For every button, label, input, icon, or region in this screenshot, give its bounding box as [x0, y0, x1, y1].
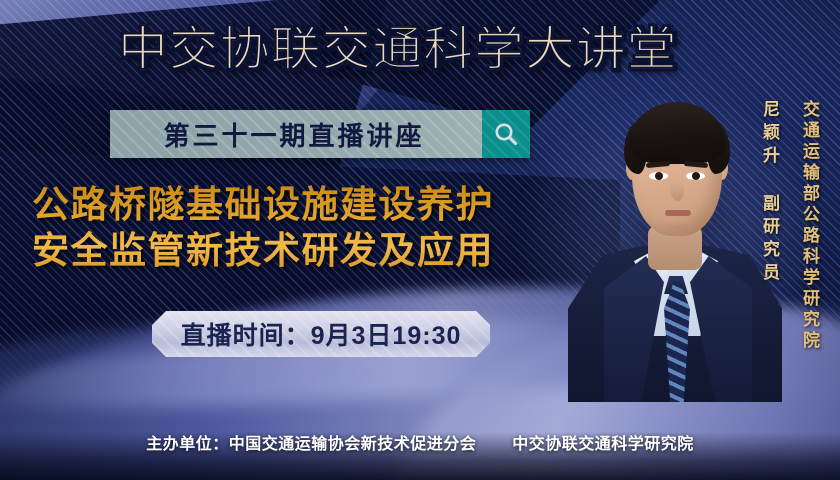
footer-organizer: 主办单位：中国交通运输协会新技术促进分会 [146, 436, 476, 453]
live-stream-poster: 中交协联交通科学大讲堂 第三十一期直播讲座 公路桥隧基础设施建设养护 安全监管新… [0, 0, 840, 480]
footer-organizers: 主办单位：中国交通运输协会新技术促进分会 中交协联交通科学研究院 [0, 430, 840, 454]
episode-banner-body: 第三十一期直播讲座 [110, 110, 482, 158]
portrait-mouth [665, 210, 691, 216]
portrait-chin [654, 220, 702, 234]
speaker-organization: 交通运输部公路科学研究院 [801, 100, 818, 352]
page-title: 中交协联交通科学大讲堂 [118, 20, 733, 78]
broadcast-time-text: 直播时间：9月3日19:30 [181, 316, 462, 352]
portrait-eye-right [686, 172, 705, 180]
portrait-nose [671, 182, 684, 201]
search-icon [493, 121, 519, 147]
lecture-topic-line-1: 公路桥隧基础设施建设养护 [32, 182, 592, 228]
lecture-topic-line-2: 安全监管新技术研发及应用 [32, 228, 592, 274]
search-icon-button[interactable] [482, 110, 530, 158]
speaker-name-title: 尼颖升 副研究员 [761, 100, 778, 286]
episode-label: 第三十一期直播讲座 [163, 116, 428, 153]
footer-institute: 中交协联交通科学研究院 [512, 436, 694, 453]
portrait-eye-left [649, 172, 668, 180]
episode-banner: 第三十一期直播讲座 [110, 110, 530, 158]
lecture-topic: 公路桥隧基础设施建设养护 安全监管新技术研发及应用 [32, 182, 592, 274]
broadcast-time-badge: 直播时间：9月3日19:30 [152, 311, 490, 357]
speaker-portrait [560, 70, 790, 400]
